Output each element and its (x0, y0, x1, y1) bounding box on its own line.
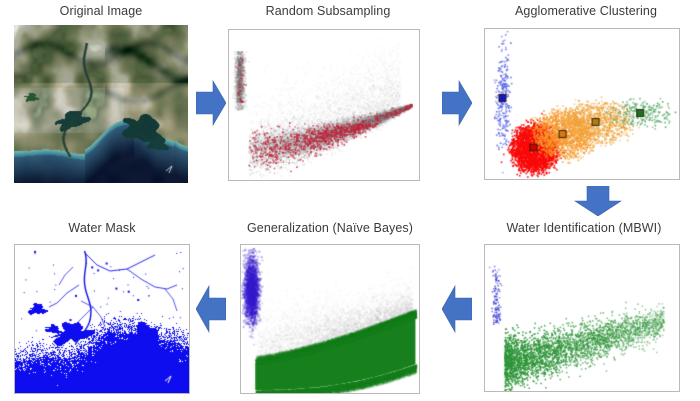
water-mask-canvas (15, 245, 189, 393)
agglomerative-clustering-plot (485, 29, 679, 179)
panel-title-agglomerative-clustering: Agglomerative Clustering (488, 4, 684, 18)
water-mask-image (15, 245, 189, 393)
water-identification-canvas (485, 245, 679, 391)
generalization-canvas (241, 245, 419, 393)
agglomerative-clustering-canvas (485, 29, 679, 179)
random-subsampling-frame (228, 29, 420, 181)
generalization-frame (240, 244, 420, 394)
arrow-generalization-to-mask (196, 283, 226, 335)
arrow-subsampling-to-clustering (442, 78, 472, 128)
panel-title-water-mask: Water Mask (14, 221, 190, 235)
panel-title-random-subsampling: Random Subsampling (236, 4, 420, 18)
satellite-canvas (14, 25, 188, 183)
water-identification-frame (484, 244, 680, 392)
original-image-frame (14, 25, 188, 183)
random-subsampling-plot (229, 30, 419, 180)
satellite-image (14, 25, 188, 183)
panel-title-original-image: Original Image (14, 4, 188, 18)
agglomerative-clustering-frame (484, 28, 680, 180)
arrow-identification-to-generalization (442, 283, 472, 335)
panel-title-water-identification: Water Identification (MBWI) (484, 221, 684, 235)
panel-title-generalization: Generalization (Naïve Bayes) (240, 221, 420, 235)
arrow-original-to-subsampling (196, 78, 226, 128)
arrow-clustering-to-identification (572, 186, 624, 216)
random-subsampling-canvas (229, 30, 419, 180)
water-mask-frame (14, 244, 190, 394)
generalization-plot (241, 245, 419, 393)
water-identification-plot (485, 245, 679, 391)
